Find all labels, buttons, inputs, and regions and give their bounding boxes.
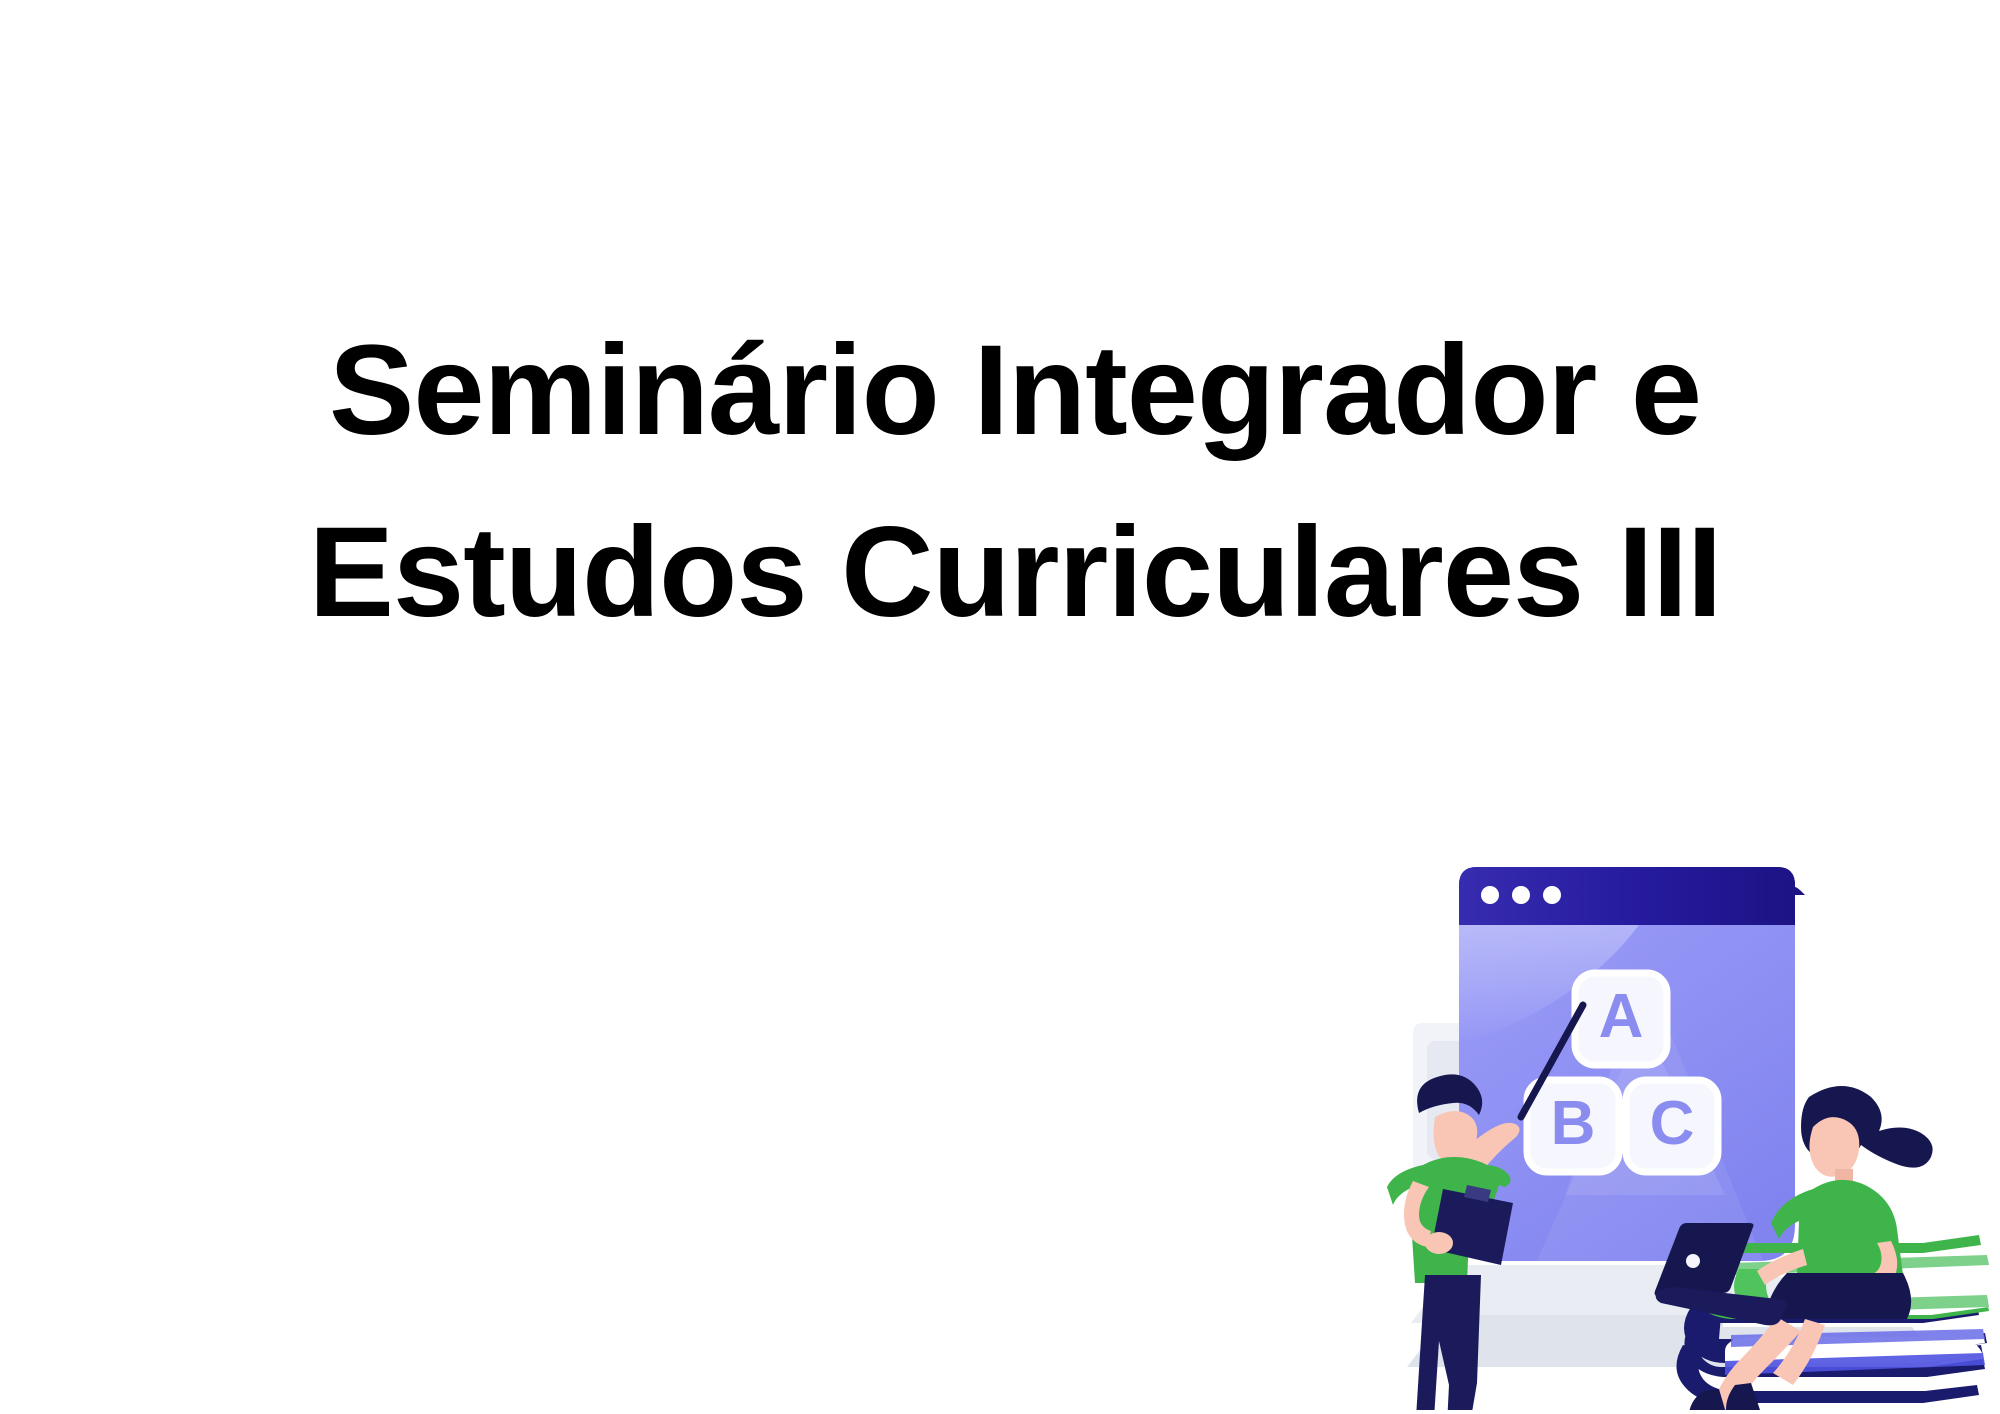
abc-classroom-illustration: A B C bbox=[1335, 845, 1995, 1410]
teacher-pants bbox=[1413, 1275, 1481, 1410]
window-dot-3 bbox=[1543, 886, 1561, 904]
slide-canvas: Seminário Integrador e Estudos Curricula… bbox=[0, 0, 2000, 1414]
window-dot-1 bbox=[1481, 886, 1499, 904]
title-line-2: Estudos Curriculares III bbox=[120, 482, 1910, 664]
svg-text:A: A bbox=[1599, 982, 1644, 1051]
title-line-1: Seminário Integrador e bbox=[120, 300, 1910, 482]
svg-text:C: C bbox=[1650, 1089, 1695, 1158]
page-title: Seminário Integrador e Estudos Curricula… bbox=[120, 300, 1910, 664]
student-skirt bbox=[1763, 1273, 1911, 1319]
svg-text:B: B bbox=[1551, 1089, 1596, 1158]
block-a: A bbox=[1575, 973, 1667, 1065]
window-dot-2 bbox=[1512, 886, 1530, 904]
block-b: B bbox=[1527, 1080, 1619, 1172]
block-c: C bbox=[1626, 1080, 1718, 1172]
